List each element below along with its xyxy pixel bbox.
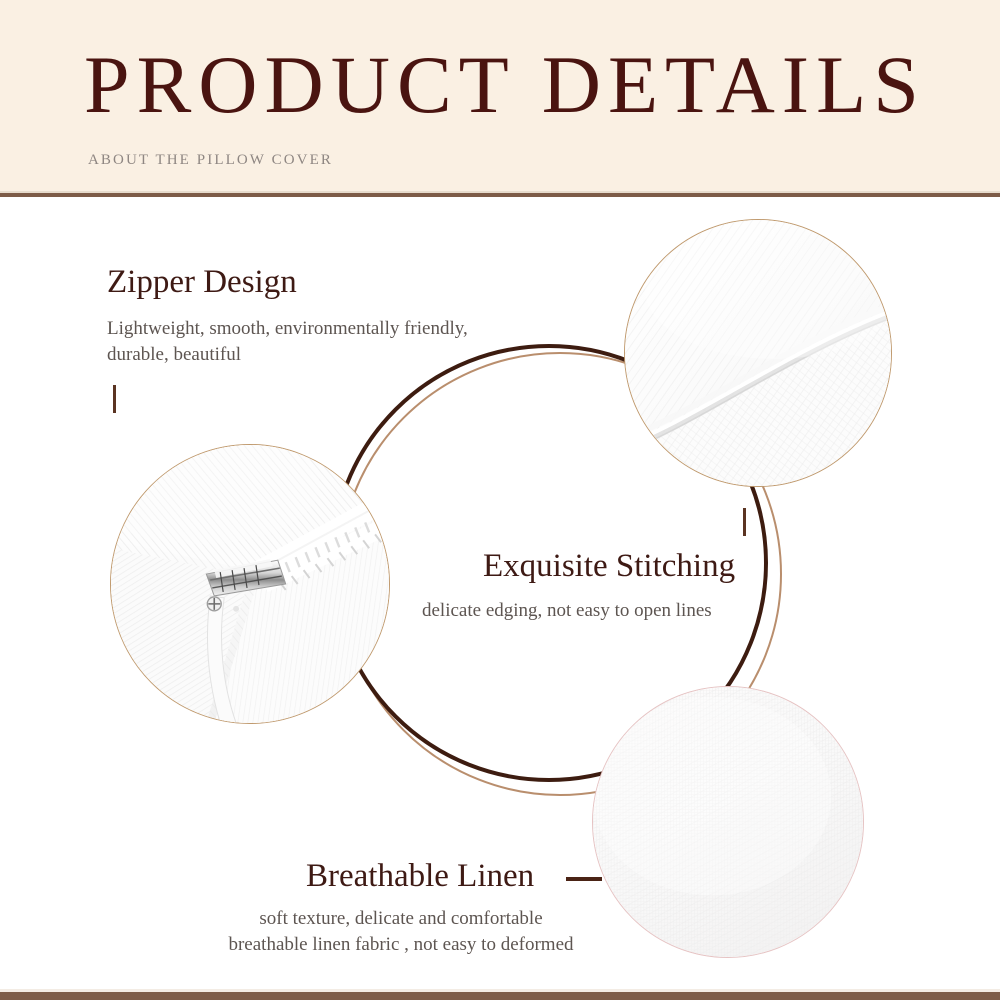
footer-bar (0, 992, 1000, 1000)
white-linen-texture-image (593, 687, 863, 957)
zipper-photo-circle (110, 444, 390, 724)
linen-connector-dash (566, 877, 602, 881)
feature-body-linen-line-1: soft texture, delicate and comfortable (186, 906, 616, 932)
page-subtitle: ABOUT THE PILLOW COVER (88, 152, 333, 169)
feature-title-linen: Breathable Linen (306, 857, 534, 895)
header-divider-rule (0, 193, 1000, 197)
feature-body-zipper: Lightweight, smooth, environmentally fri… (107, 316, 527, 368)
linen-photo-circle (592, 686, 864, 958)
white-zipper-image (111, 445, 389, 723)
page-title: PRODUCT DETAILS (84, 42, 944, 128)
feature-body-stitching: delicate edging, not easy to open lines (422, 598, 842, 624)
feature-body-linen-line-2: breathable linen fabric , not easy to de… (186, 932, 616, 958)
stitching-connector-tick (743, 508, 746, 536)
feature-title-zipper: Zipper Design (107, 263, 297, 301)
white-fabric-seam-image (625, 220, 891, 486)
stitching-photo-circle (624, 219, 892, 487)
product-details-infographic: PRODUCT DETAILS ABOUT THE PILLOW COVER (0, 0, 1000, 1000)
feature-body-linen: soft texture, delicate and comfortable b… (186, 906, 616, 958)
feature-title-stitching: Exquisite Stitching (483, 547, 735, 585)
zipper-connector-tick (113, 385, 116, 413)
